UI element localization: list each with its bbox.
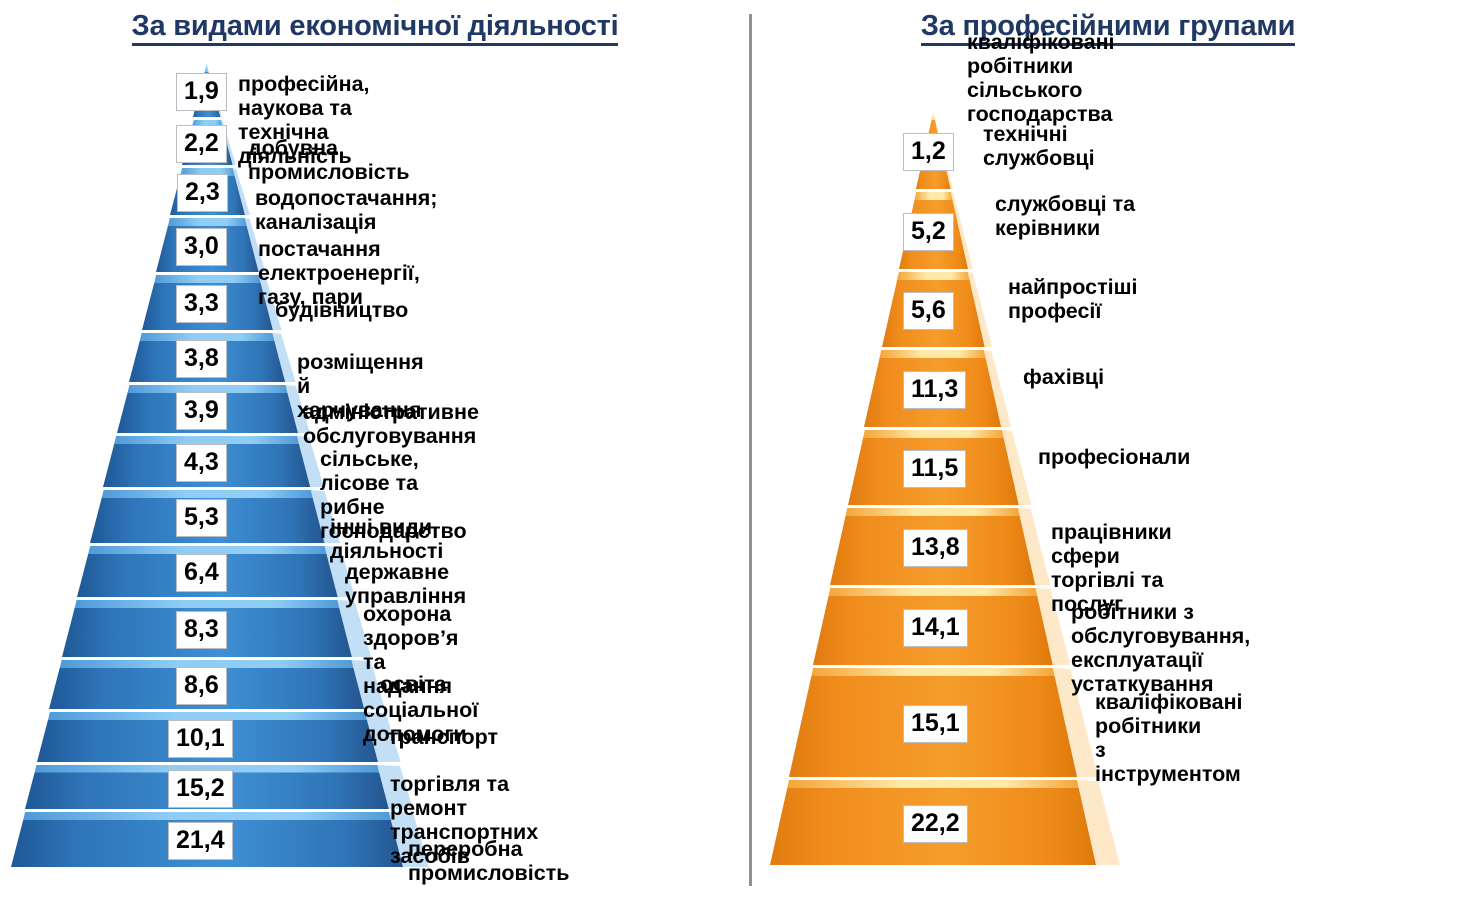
layer-value-chip: 11,3 [903,371,966,409]
layer-label: державне управління [345,560,466,608]
layer-label: водопостачання; каналізація [255,186,437,234]
layer-label: освіта [380,672,446,696]
layer-value-chip: 4,3 [176,444,227,482]
layer-value-chip: 21,4 [168,822,233,860]
layer-value-chip: 2,2 [176,125,227,163]
layer-value-chip: 5,6 [903,292,954,330]
layer-value-chip: 11,5 [903,450,966,488]
layer-label: службовці та керівники [995,192,1175,240]
layer-label: інші види діяльності [330,515,443,563]
layer-label: найпростіші професії [1008,275,1175,323]
occupational-groups-pyramid: 1,2кваліфіковані робітники сільського го… [755,0,1175,919]
layer-value-chip: 5,2 [903,213,954,251]
layer-label: робітники з обслуговування, експлуатації… [1071,600,1250,696]
economic-activity-pyramid: 1,9професійна, наукова та технічна діяль… [0,0,430,919]
layer-value-chip: 3,0 [176,228,227,266]
layer-label: професіонали [1038,445,1190,469]
layer-value-chip: 15,2 [168,770,233,808]
layer-label: кваліфіковані робітники з інструментом [1095,690,1243,786]
layer-value-chip: 8,3 [176,611,227,649]
layer-value-chip: 13,8 [903,529,968,567]
layer-value-chip: 2,3 [177,174,228,212]
layer-value-chip: 1,2 [903,133,954,171]
layer-label: будівництво [275,298,408,322]
layer-value-chip: 5,3 [176,499,227,537]
layer-value-chip: 8,6 [176,667,227,705]
layer-value-chip: 22,2 [903,805,968,843]
layer-value-chip: 3,3 [176,285,227,323]
layer-label: кваліфіковані робітники сільського госпо… [967,30,1175,126]
layer-value-chip: 3,8 [176,340,227,378]
layer-value-chip: 6,4 [176,554,227,592]
layer-value-chip: 3,9 [176,392,227,430]
layer-value-chip: 14,1 [903,609,968,647]
layer-value-chip: 10,1 [168,720,233,758]
layer-label: переробна промисловість [408,837,569,885]
layer-label: добувна промисловість [248,136,430,184]
layer-label: фахівці [1023,365,1104,389]
layer-label: адміністративне обслуговування [303,400,479,448]
layer-value-chip: 15,1 [903,705,968,743]
layer-value-chip: 1,9 [176,73,227,111]
left-panel: За видами економічної діяльності 1,9проф… [0,0,750,919]
layer-label: транспорт [388,725,498,749]
layer-label: технічні службовці [983,122,1175,170]
